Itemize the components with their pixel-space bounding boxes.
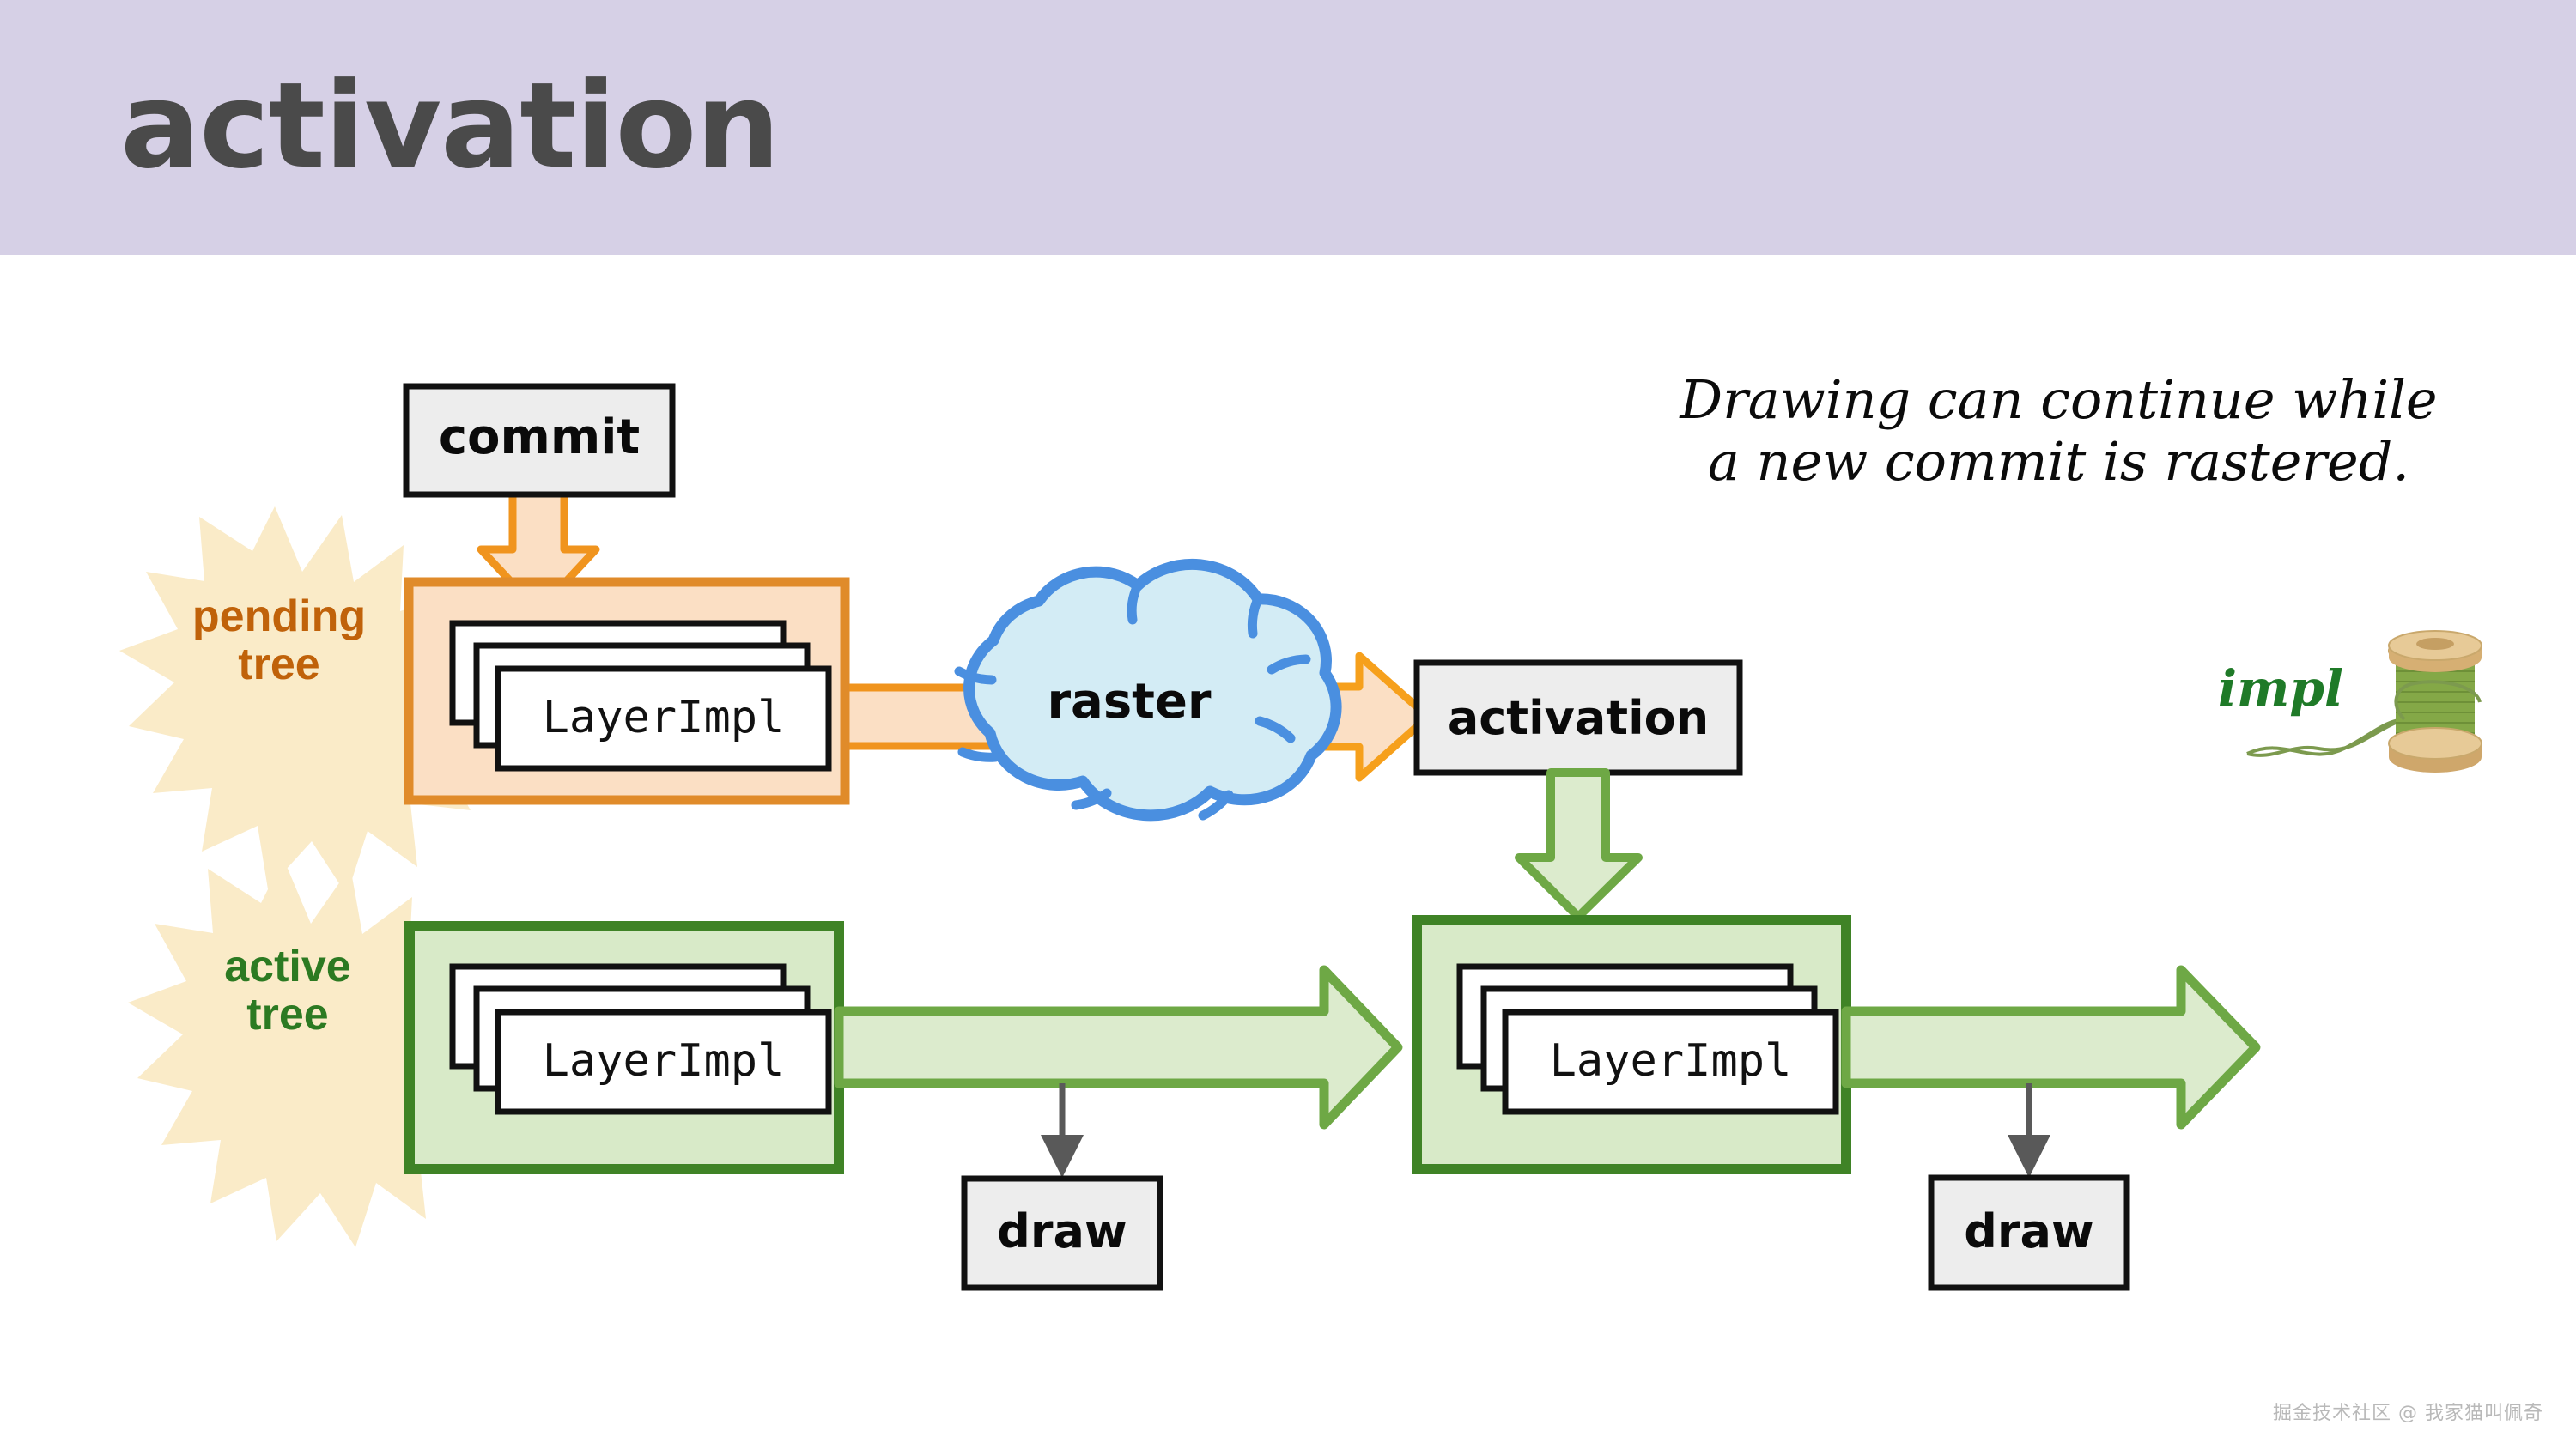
- pending-tree-layer-label: LayerImpl: [498, 692, 829, 743]
- burst-active-tree-label: active tree: [180, 943, 395, 1039]
- commit-box-label: commit: [406, 409, 672, 465]
- burst-pending-tree-label: pending tree: [172, 592, 386, 688]
- draw-right-box-label: draw: [1931, 1204, 2127, 1258]
- burst-pending-line2: tree: [238, 640, 319, 689]
- burst-active-line1: active: [224, 942, 350, 991]
- active-tree-left-flow-arrow: [839, 970, 1398, 1125]
- draw-right-connector: [2008, 1083, 2050, 1178]
- raster-cloud-label: raster: [920, 674, 1338, 730]
- draw-left-connector: [1041, 1083, 1084, 1178]
- side-note-line1: Drawing can continue while: [1680, 368, 2437, 431]
- active-tree-right-layer-label: LayerImpl: [1505, 1035, 1836, 1087]
- burst-pending-line1: pending: [192, 591, 366, 641]
- burst-active-line2: tree: [246, 990, 328, 1040]
- active-tree-right-flow-arrow: [1846, 970, 2256, 1125]
- side-note-line2: a new commit is rastered.: [1708, 430, 2409, 493]
- draw-left-box-label: draw: [964, 1204, 1160, 1258]
- activation-to-active-tree-arrow: [1519, 773, 1638, 917]
- active-tree-left-layer-label: LayerImpl: [498, 1035, 829, 1087]
- impl-label: impl: [2218, 659, 2343, 718]
- side-note: Drawing can continue while a new commit …: [1601, 369, 2516, 493]
- activation-box-label: activation: [1417, 691, 1740, 745]
- slide-canvas: activation: [0, 0, 2576, 1449]
- watermark: 掘金技术社区 @ 我家猫叫佩奇: [2273, 1397, 2543, 1425]
